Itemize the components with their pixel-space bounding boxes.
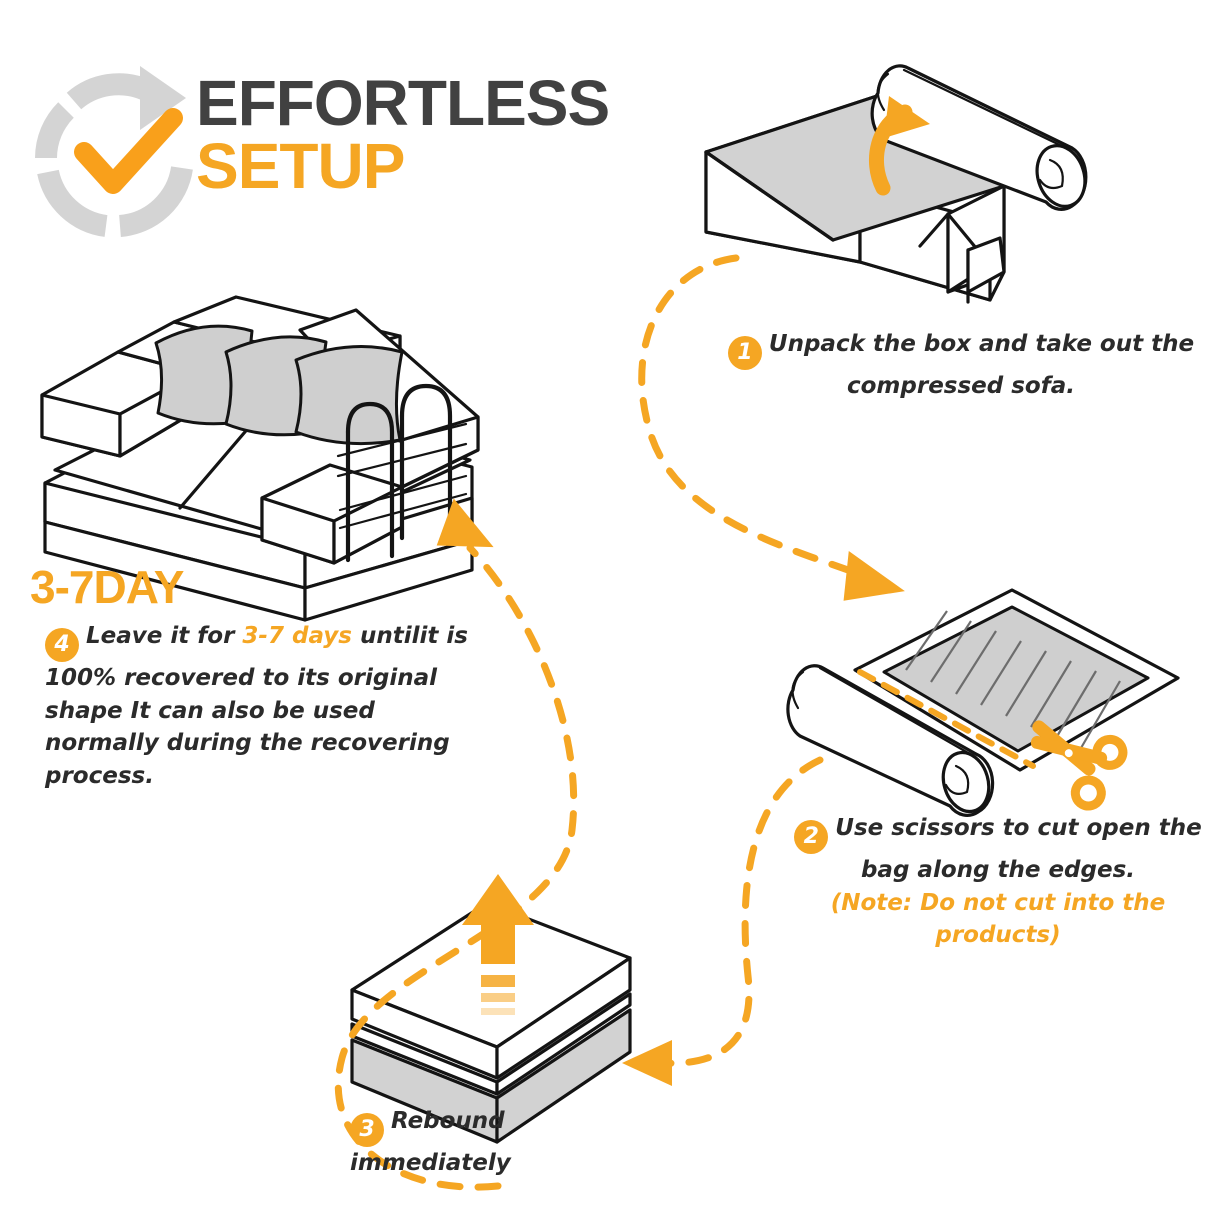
refresh-check-icon bbox=[46, 66, 186, 226]
step-3-text: 3Rebound immediately bbox=[350, 1105, 650, 1180]
step-4-badge: 4 bbox=[45, 628, 79, 662]
shipping-box-illustration bbox=[706, 66, 1092, 302]
infographic-canvas: .ln{fill:none;stroke:#141414;stroke-widt… bbox=[0, 0, 1214, 1214]
step-4-text: 4Leave it for 3-7 days untilit is 100% r… bbox=[45, 620, 475, 793]
step-2-text: 2Use scissors to cut open the bag along … bbox=[788, 812, 1208, 887]
dashed-flow-arrow-step1-to-step2 bbox=[642, 258, 909, 607]
step-3-badge: 3 bbox=[350, 1113, 384, 1147]
step-2-note: (Note: Do not cut into the products) bbox=[788, 887, 1208, 952]
step-1-label: Unpack the box and take out the compress… bbox=[769, 331, 1194, 399]
step-2-block: 2Use scissors to cut open the bag along … bbox=[788, 812, 1208, 952]
step-2-badge: 2 bbox=[794, 820, 828, 854]
foam-block-illustration bbox=[352, 874, 630, 1142]
step-4-label-a: Leave it for bbox=[86, 623, 242, 649]
title-line-setup: SETUP bbox=[196, 135, 756, 198]
title-line-effortless: EFFORTLESS bbox=[196, 72, 756, 135]
step-4-label-highlight: 3-7 days bbox=[242, 623, 352, 649]
step-1-badge: 1 bbox=[728, 336, 762, 370]
step-2-label: Use scissors to cut open the bag along t… bbox=[835, 815, 1201, 883]
step-3-block: 3Rebound immediately bbox=[350, 1105, 650, 1180]
step-1-text: 1Unpack the box and take out the compres… bbox=[726, 328, 1196, 403]
page-title: EFFORTLESS SETUP bbox=[196, 72, 756, 197]
vacuum-bag-illustration bbox=[788, 590, 1178, 817]
step-4-block: 4Leave it for 3-7 days untilit is 100% r… bbox=[45, 620, 475, 793]
step-1-block: 1Unpack the box and take out the compres… bbox=[726, 328, 1196, 403]
day-range-label: 3-7DAY bbox=[30, 560, 183, 614]
